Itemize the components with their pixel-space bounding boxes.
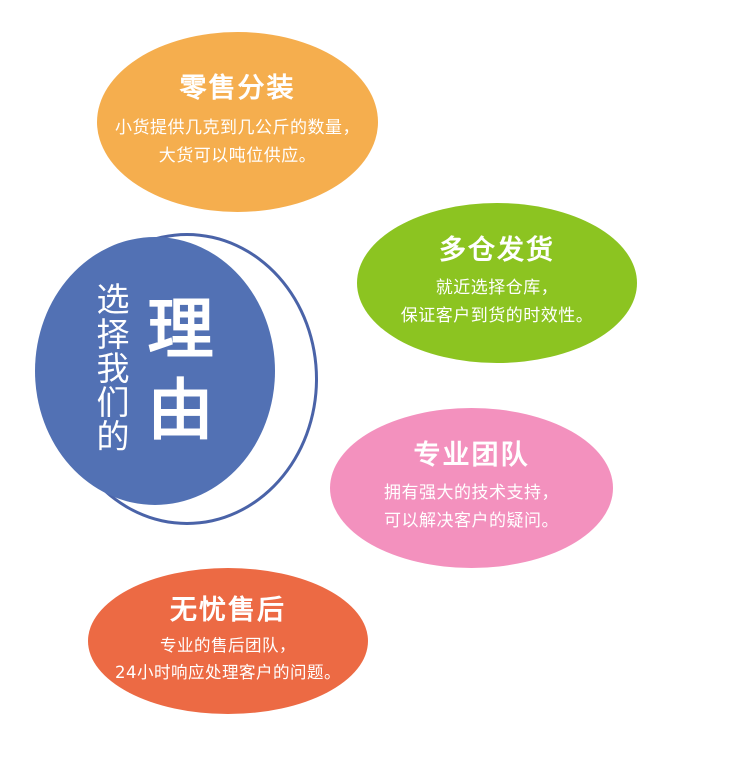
bubble-warehouse-line-2: 保证客户到货的时效性。 <box>401 302 594 330</box>
bubble-retail-line-1: 小货提供几克到几公斤的数量， <box>115 114 360 142</box>
bubble-warehouse[interactable]: 多仓发货 就近选择仓库， 保证客户到货的时效性。 <box>357 203 637 363</box>
center-lead-char-4: 的 <box>97 420 130 454</box>
bubble-team-title: 专业团队 <box>414 441 530 471</box>
center-lead-char-0: 选 <box>97 283 130 317</box>
bubble-service[interactable]: 无忧售后 专业的售后团队， 24小时响应处理客户的问题。 <box>88 568 368 714</box>
bubble-retail[interactable]: 零售分装 小货提供几克到几公斤的数量， 大货可以吨位供应。 <box>97 32 378 212</box>
center-main-char-0: 理 <box>148 290 214 371</box>
center-main-heading: 理由 <box>148 290 214 451</box>
bubble-service-title: 无忧售后 <box>170 596 286 626</box>
reasons-infographic: 零售分装 小货提供几克到几公斤的数量， 大货可以吨位供应。 多仓发货 就近选择仓… <box>0 0 750 773</box>
center-lead-heading: 选择我们的 <box>97 283 130 455</box>
bubble-warehouse-line-1: 就近选择仓库， <box>401 274 594 302</box>
center-badge: 理由 选择我们的 <box>30 225 325 530</box>
center-main-char-1: 由 <box>148 371 214 452</box>
bubble-retail-title: 零售分装 <box>180 74 296 104</box>
bubble-team-line-1: 拥有强大的技术支持， <box>384 479 559 507</box>
bubble-retail-line-2: 大货可以吨位供应。 <box>115 142 360 170</box>
bubble-service-body: 专业的售后团队， 24小时响应处理客户的问题。 <box>115 632 341 686</box>
bubble-warehouse-body: 就近选择仓库， 保证客户到货的时效性。 <box>401 274 594 330</box>
bubble-team-body: 拥有强大的技术支持， 可以解决客户的疑问。 <box>384 479 559 535</box>
bubble-service-line-2: 24小时响应处理客户的问题。 <box>115 659 341 686</box>
center-lead-char-2: 我 <box>97 352 130 386</box>
bubble-team[interactable]: 专业团队 拥有强大的技术支持， 可以解决客户的疑问。 <box>330 408 613 568</box>
bubble-retail-body: 小货提供几克到几公斤的数量， 大货可以吨位供应。 <box>115 114 360 170</box>
center-lead-char-1: 择 <box>97 318 130 352</box>
bubble-warehouse-title: 多仓发货 <box>439 236 555 266</box>
center-text-group: 理由 选择我们的 <box>35 237 275 505</box>
bubble-team-line-2: 可以解决客户的疑问。 <box>384 507 559 535</box>
center-lead-char-3: 们 <box>97 386 130 420</box>
bubble-service-line-1: 专业的售后团队， <box>115 632 341 659</box>
